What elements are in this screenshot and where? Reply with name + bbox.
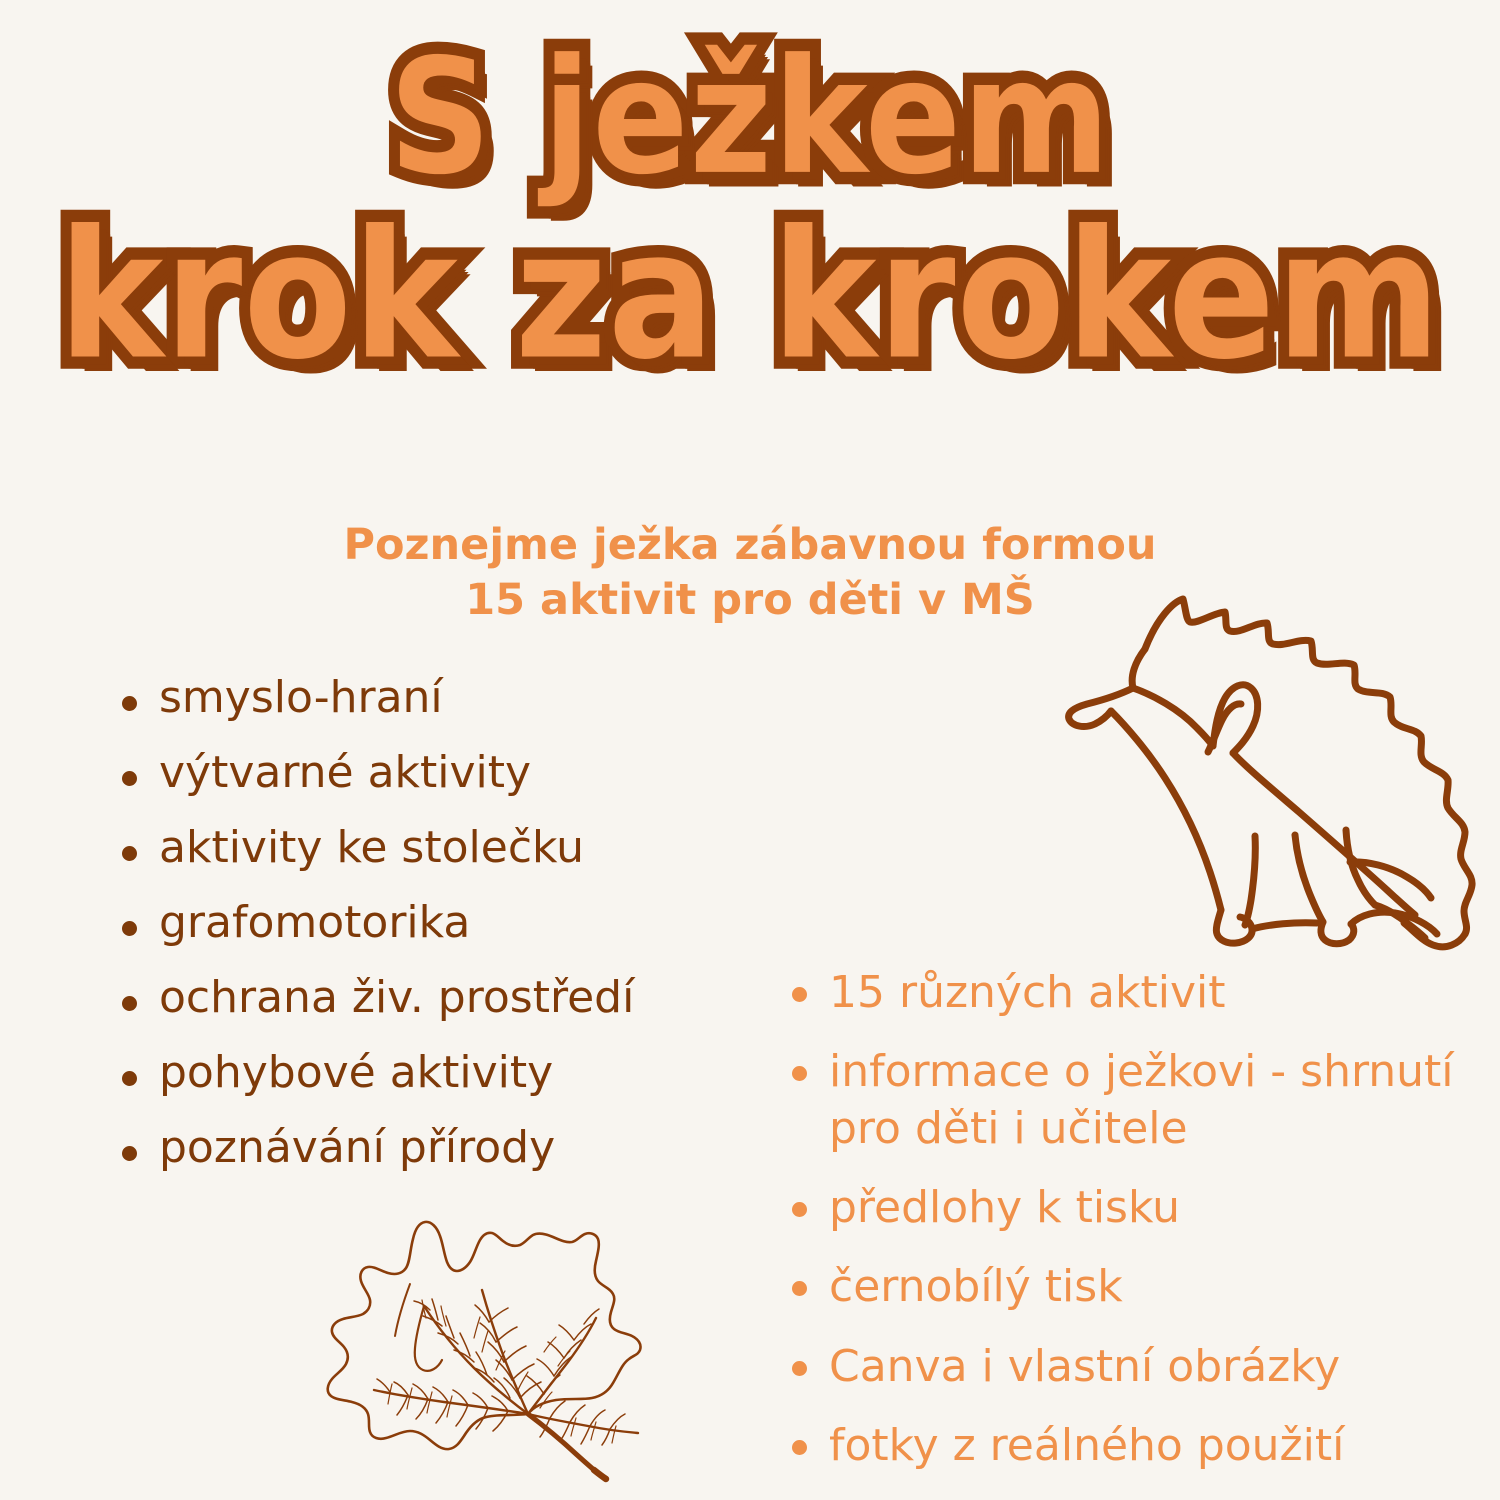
features-list-left: smyslo-hraní výtvarné aktivity aktivity … bbox=[122, 676, 762, 1201]
bullet-dot-icon bbox=[122, 696, 137, 711]
list-item: předlohy k tisku bbox=[792, 1180, 1472, 1236]
list-item-label: smyslo-hraní bbox=[159, 676, 443, 720]
poster-subtitle: Poznejme ježka zábavnou formou 15 aktivi… bbox=[0, 518, 1500, 628]
bullet-dot-icon bbox=[122, 996, 137, 1011]
subtitle-line-2: 15 aktivit pro děti v MŠ bbox=[0, 573, 1500, 628]
list-item: ochrana živ. prostředí bbox=[122, 976, 762, 1020]
list-item: informace o ježkovi - shrnutí pro děti i… bbox=[792, 1044, 1472, 1157]
list-item-label: ochrana živ. prostředí bbox=[159, 976, 634, 1020]
bullet-dot-icon bbox=[122, 846, 137, 861]
list-item-label: černobílý tisk bbox=[829, 1259, 1123, 1315]
list-item: aktivity ke stolečku bbox=[122, 826, 762, 870]
title-line-1: S ježkem bbox=[0, 42, 1500, 195]
features-list-right: 15 různých aktivit informace o ježkovi -… bbox=[792, 965, 1472, 1497]
bullet-dot-icon bbox=[792, 987, 807, 1002]
bullet-dot-icon bbox=[792, 1440, 807, 1455]
list-item-label: 15 různých aktivit bbox=[829, 965, 1225, 1021]
title-line-2: krok za krokem bbox=[0, 212, 1500, 382]
list-item: pohybové aktivity bbox=[122, 1051, 762, 1095]
list-item: 15 různých aktivit bbox=[792, 965, 1472, 1021]
poster-title: S ježkem krok za krokem bbox=[0, 42, 1500, 364]
list-item-label: informace o ježkovi - shrnutí pro děti i… bbox=[829, 1044, 1472, 1157]
poster-canvas: S ježkem krok za krokem Poznejme ježka z… bbox=[0, 0, 1500, 1500]
list-item-label: pohybové aktivity bbox=[159, 1051, 553, 1095]
list-item: grafomotorika bbox=[122, 901, 762, 945]
list-item: černobílý tisk bbox=[792, 1259, 1472, 1315]
list-item-label: aktivity ke stolečku bbox=[159, 826, 584, 870]
list-item-label: fotky z reálného použití bbox=[829, 1418, 1344, 1474]
list-item: poznávání přírody bbox=[122, 1126, 762, 1170]
bullet-dot-icon bbox=[122, 771, 137, 786]
list-item: Canva i vlastní obrázky bbox=[792, 1339, 1472, 1395]
list-item-label: poznávání přírody bbox=[159, 1126, 555, 1170]
list-item-label: předlohy k tisku bbox=[829, 1180, 1180, 1236]
bullet-dot-icon bbox=[122, 1071, 137, 1086]
list-item-label: Canva i vlastní obrázky bbox=[829, 1339, 1340, 1395]
bullet-dot-icon bbox=[792, 1361, 807, 1376]
list-item: smyslo-hraní bbox=[122, 676, 762, 720]
list-item: fotky z reálného použití bbox=[792, 1418, 1472, 1474]
list-item: výtvarné aktivity bbox=[122, 751, 762, 795]
list-item-label: výtvarné aktivity bbox=[159, 751, 531, 795]
hedgehog-icon bbox=[1055, 572, 1500, 972]
bullet-dot-icon bbox=[792, 1202, 807, 1217]
bullet-dot-icon bbox=[122, 921, 137, 936]
bullet-dot-icon bbox=[122, 1146, 137, 1161]
bullet-dot-icon bbox=[792, 1066, 807, 1081]
list-item-label: grafomotorika bbox=[159, 901, 470, 945]
bullet-dot-icon bbox=[792, 1281, 807, 1296]
subtitle-line-1: Poznejme ježka zábavnou formou bbox=[0, 518, 1500, 573]
leaf-icon bbox=[282, 1178, 702, 1500]
